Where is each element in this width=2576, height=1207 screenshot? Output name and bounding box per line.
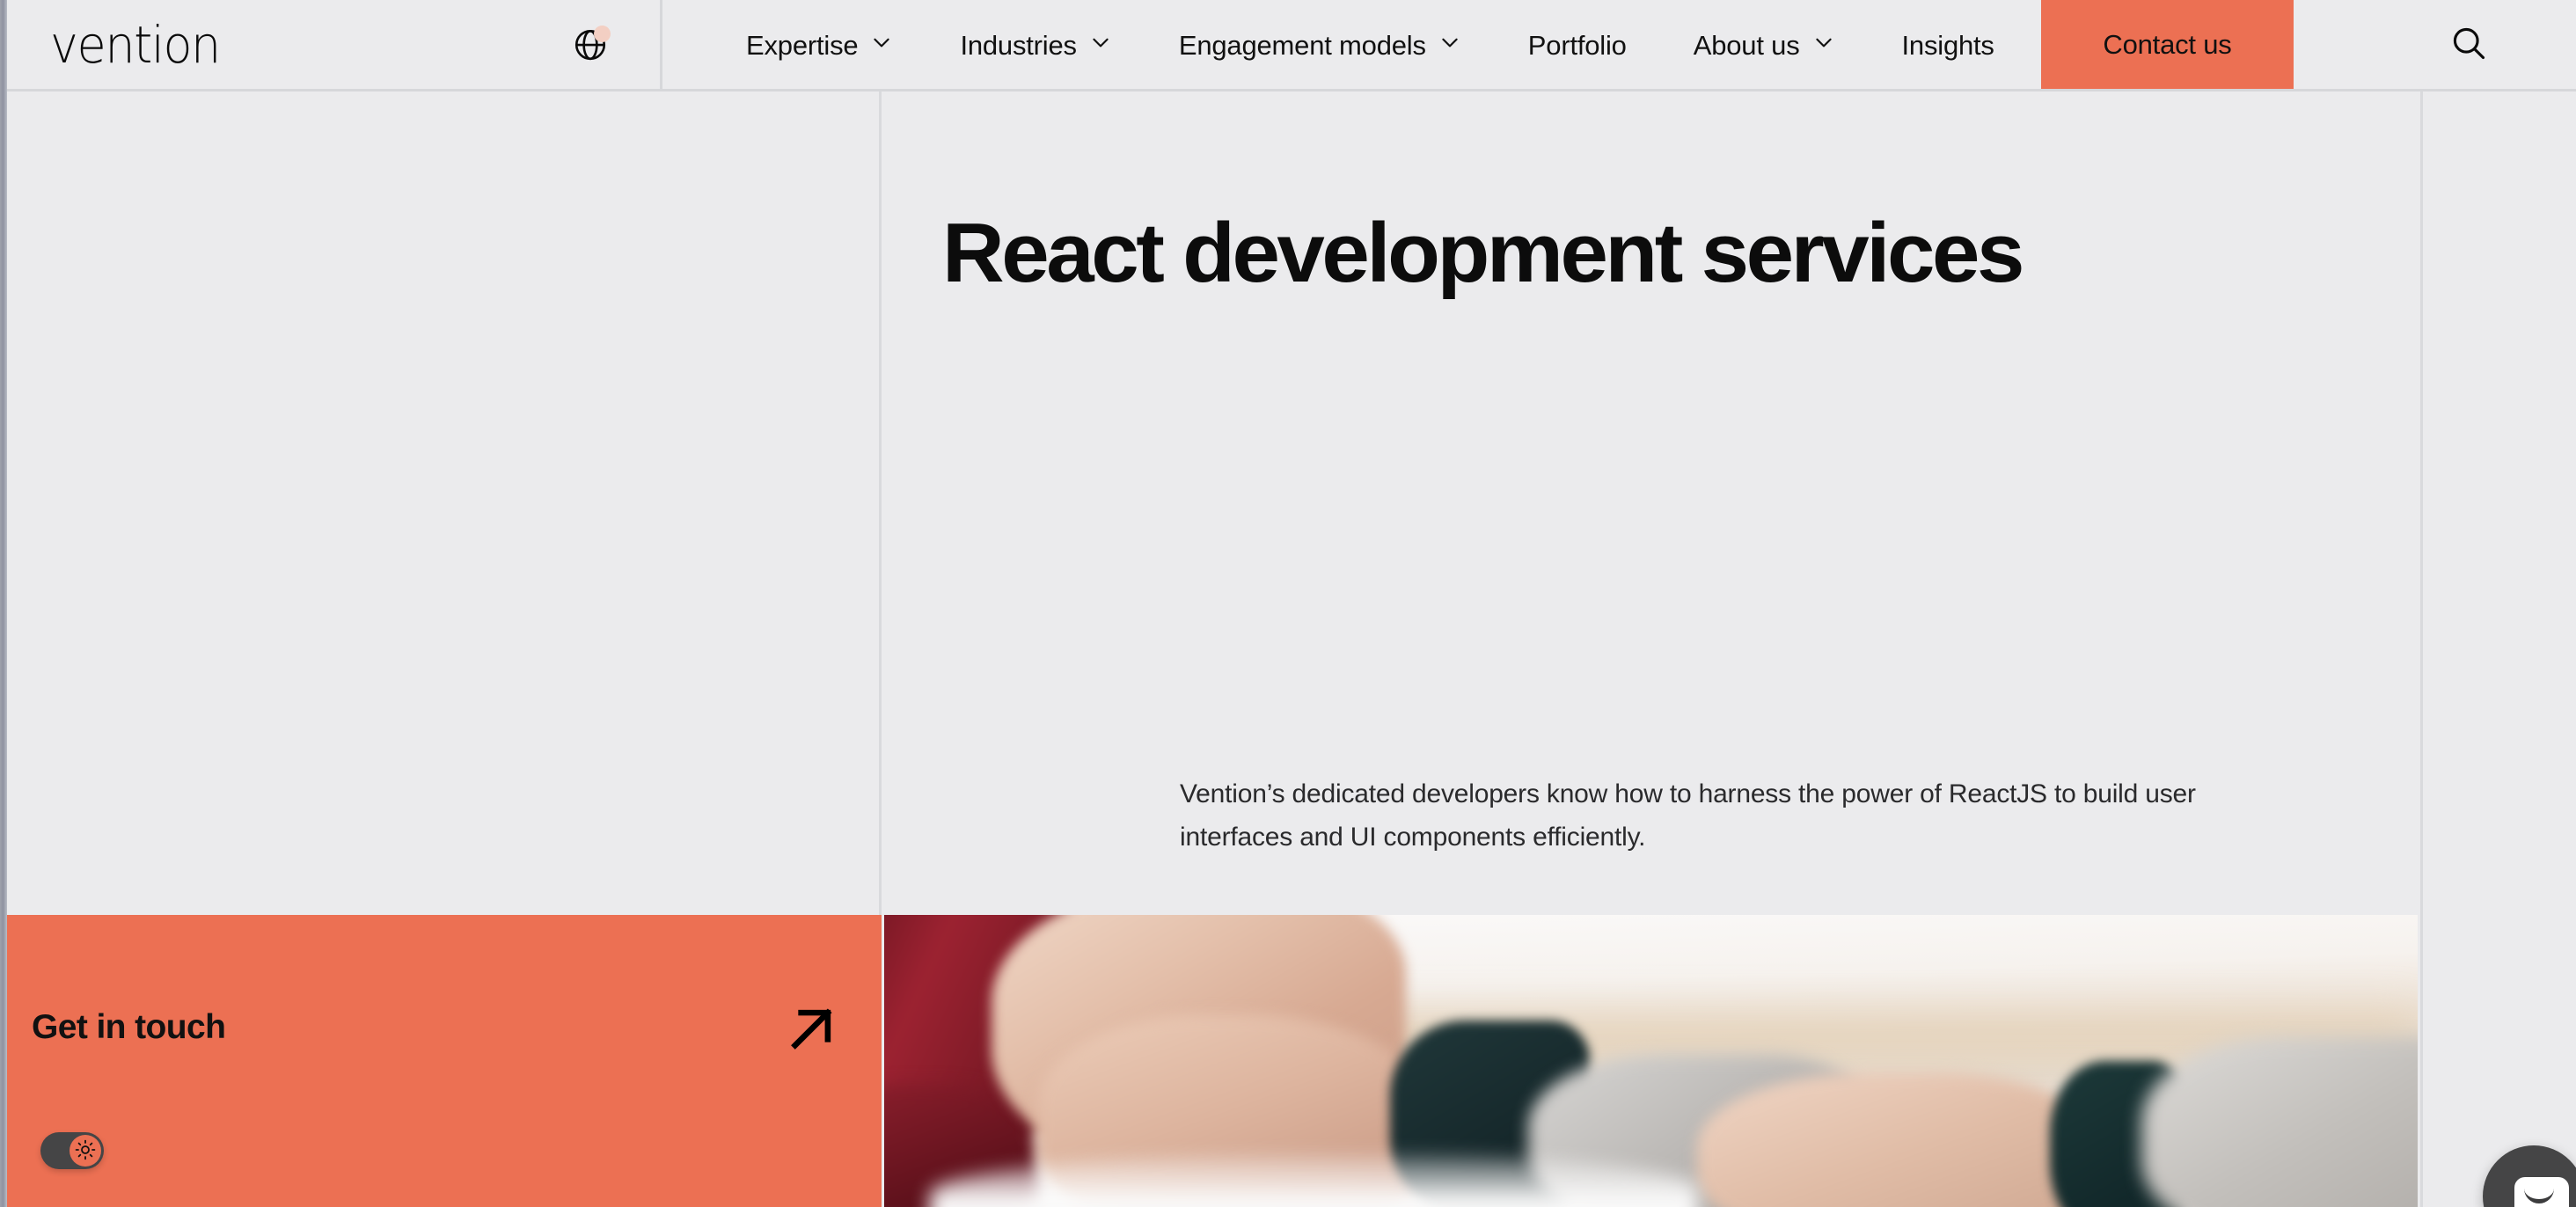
hero-image-sleeve-right bbox=[2141, 1037, 2418, 1207]
hero-copy-panel: React development services Vention’s ded… bbox=[884, 91, 2418, 915]
get-in-touch-label: Get in touch bbox=[32, 1008, 225, 1047]
page-title: React development services bbox=[942, 209, 2022, 298]
search-icon bbox=[2449, 24, 2488, 65]
search-button[interactable] bbox=[2442, 18, 2495, 71]
nav-links: Expertise Industries Engagement models bbox=[662, 0, 2028, 89]
nav-label: Expertise bbox=[746, 32, 858, 59]
nav-item-engagement-models[interactable]: Engagement models bbox=[1145, 0, 1495, 89]
smiley-face-icon bbox=[2514, 1177, 2569, 1207]
nav-item-about-us[interactable]: About us bbox=[1660, 0, 1869, 89]
nav-item-industries[interactable]: Industries bbox=[926, 0, 1145, 89]
contact-us-button[interactable]: Contact us bbox=[2041, 0, 2294, 89]
chevron-down-icon bbox=[1089, 31, 1112, 58]
left-empty-panel bbox=[7, 91, 879, 915]
page-root: vention Expertise bbox=[0, 0, 2576, 1207]
arrow-up-right-icon bbox=[783, 999, 841, 1057]
search-zone bbox=[2418, 0, 2576, 89]
left-column: Get in touch bbox=[7, 91, 882, 1207]
main-stage: Get in touch bbox=[7, 91, 2576, 1207]
right-column: React development services Vention’s ded… bbox=[884, 91, 2418, 1207]
chevron-down-icon bbox=[1812, 31, 1835, 58]
nav-label: About us bbox=[1694, 32, 1800, 59]
brand-zone: vention bbox=[0, 0, 662, 89]
nav-item-portfolio[interactable]: Portfolio bbox=[1495, 0, 1660, 89]
theme-toggle[interactable] bbox=[40, 1132, 104, 1169]
hero-image bbox=[884, 915, 2418, 1207]
get-in-touch-panel[interactable]: Get in touch bbox=[7, 915, 882, 1207]
theme-toggle-knob bbox=[70, 1135, 101, 1167]
nav-item-insights[interactable]: Insights bbox=[1869, 0, 2028, 89]
window-scroll-rail[interactable] bbox=[0, 0, 7, 1207]
vention-logo[interactable]: vention bbox=[50, 19, 220, 70]
nav-item-expertise[interactable]: Expertise bbox=[713, 0, 926, 89]
chevron-down-icon bbox=[1438, 31, 1461, 58]
site-header: vention Expertise bbox=[0, 0, 2576, 91]
nav-label: Engagement models bbox=[1179, 32, 1426, 59]
sun-icon bbox=[75, 1139, 96, 1163]
nav-label: Industries bbox=[960, 32, 1076, 59]
chevron-down-icon bbox=[870, 31, 893, 58]
right-gutter bbox=[2420, 91, 2576, 1207]
smile-curve bbox=[2524, 1186, 2554, 1203]
notification-dot-icon bbox=[594, 26, 611, 42]
hero-subtitle: Vention’s dedicated developers know how … bbox=[1180, 773, 2218, 859]
main-navigation: Expertise Industries Engagement models bbox=[662, 0, 2576, 89]
hero-image-hand-right bbox=[1697, 1072, 2096, 1207]
nav-label: Portfolio bbox=[1528, 32, 1627, 59]
language-selector-button[interactable] bbox=[563, 18, 618, 72]
nav-label: Insights bbox=[1902, 32, 1994, 59]
